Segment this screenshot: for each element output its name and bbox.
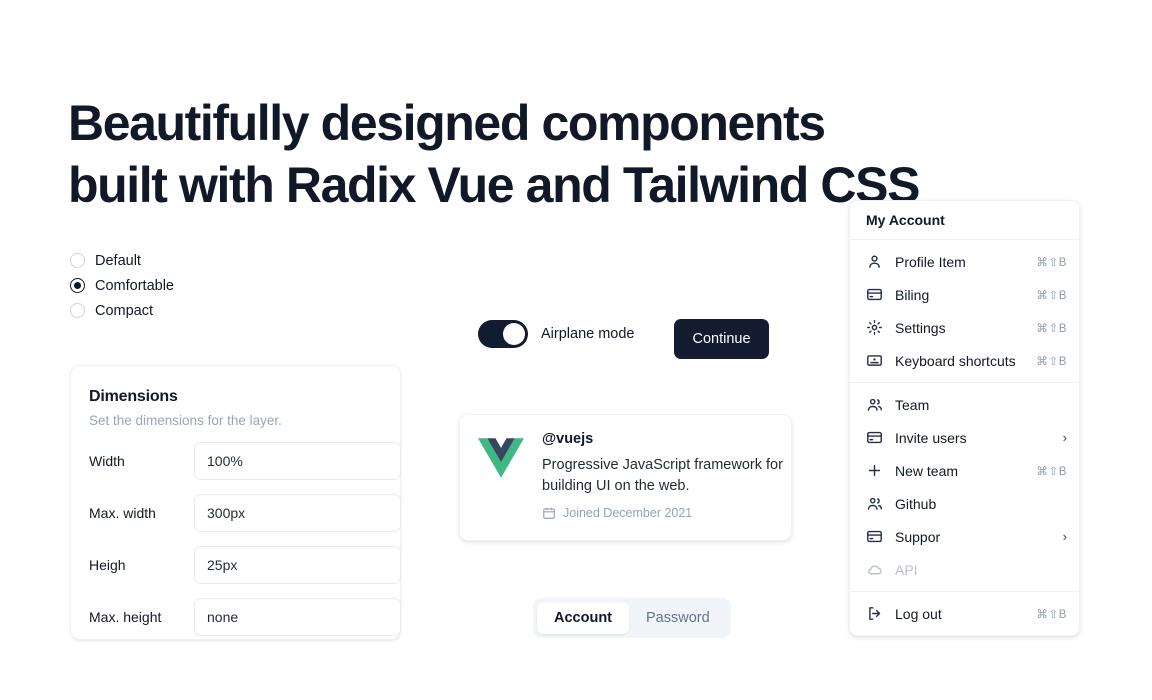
- menu-item-label: API: [895, 562, 1067, 578]
- vuejs-description: Progressive JavaScript framework for bui…: [542, 455, 784, 497]
- continue-button[interactable]: Continue: [674, 319, 769, 359]
- menu-item-shortcut: ⌘⇧B: [1036, 321, 1067, 335]
- menu-item-label: Settings: [895, 320, 1036, 336]
- radio-label: Comfortable: [95, 278, 174, 294]
- vuejs-handle: @vuejs: [542, 431, 784, 447]
- page-title-line-1: Beautifully designed components: [68, 92, 1028, 154]
- joined-date: Joined December 2021: [563, 506, 692, 520]
- dimension-row: Width: [89, 442, 380, 480]
- credit-card-icon: [866, 429, 883, 446]
- menu-item-shortcut: ⌘⇧B: [1036, 255, 1067, 269]
- radio-circle: [70, 303, 85, 318]
- menu-header: My Account: [850, 201, 1079, 239]
- menu-item-label: Team: [895, 397, 1067, 413]
- menu-item-settings[interactable]: Settings⌘⇧B: [850, 311, 1079, 344]
- logout-icon: [866, 605, 883, 622]
- dimension-input-max-width[interactable]: [194, 494, 401, 532]
- dimension-input-width[interactable]: [194, 442, 401, 480]
- dimension-input-max-height[interactable]: [194, 598, 401, 636]
- airplane-mode-label: Airplane mode: [541, 326, 635, 342]
- menu-item-new-team[interactable]: New team⌘⇧B: [850, 454, 1079, 487]
- menu-item-label: Log out: [895, 606, 1036, 622]
- dimension-row: Max. width: [89, 494, 380, 532]
- dimension-row: Heigh: [89, 546, 380, 584]
- radio-option-compact[interactable]: Compact: [70, 298, 330, 323]
- account-dropdown-menu: My Account Profile Item⌘⇧BBiling⌘⇧BSetti…: [849, 200, 1080, 636]
- dimension-label: Max. width: [89, 505, 194, 521]
- vue-logo-icon: [478, 435, 524, 481]
- menu-item-profile-item[interactable]: Profile Item⌘⇧B: [850, 245, 1079, 278]
- menu-item-label: Suppor: [895, 529, 1063, 545]
- credit-card-icon: [866, 528, 883, 545]
- chevron-right-icon: ›: [1063, 431, 1067, 444]
- menu-item-shortcut: ⌘⇧B: [1036, 464, 1067, 478]
- menu-item-team[interactable]: Team: [850, 388, 1079, 421]
- tab-account[interactable]: Account: [537, 602, 629, 634]
- user-icon: [866, 253, 883, 270]
- airplane-mode-row: Airplane mode: [478, 320, 635, 348]
- menu-item-suppor[interactable]: Suppor›: [850, 520, 1079, 553]
- menu-group: TeamInvite users›New team⌘⇧BGithubSuppor…: [850, 383, 1079, 591]
- menu-item-label: Biling: [895, 287, 1036, 303]
- radio-option-comfortable[interactable]: Comfortable: [70, 273, 330, 298]
- credit-card-icon: [866, 286, 883, 303]
- chevron-right-icon: ›: [1063, 530, 1067, 543]
- menu-group: Log out⌘⇧B: [850, 592, 1079, 635]
- hover-card-body: @vuejs Progressive JavaScript framework …: [542, 431, 784, 524]
- radio-circle: [70, 253, 85, 268]
- gear-icon: [866, 319, 883, 336]
- menu-item-label: Keyboard shortcuts: [895, 353, 1036, 369]
- dimension-row: Max. height: [89, 598, 380, 636]
- calendar-icon: [542, 506, 556, 520]
- airplane-mode-switch[interactable]: [478, 320, 528, 348]
- menu-item-shortcut: ⌘⇧B: [1036, 354, 1067, 368]
- menu-item-biling[interactable]: Biling⌘⇧B: [850, 278, 1079, 311]
- radio-option-default[interactable]: Default: [70, 248, 330, 273]
- radio-group: DefaultComfortableCompact: [70, 248, 330, 323]
- menu-item-shortcut: ⌘⇧B: [1036, 288, 1067, 302]
- cloud-icon: [866, 561, 883, 578]
- dimensions-field-list: WidthMax. widthHeighMax. height: [89, 442, 380, 636]
- menu-body: Profile Item⌘⇧BBiling⌘⇧BSettings⌘⇧BKeybo…: [850, 239, 1079, 635]
- dimensions-description: Set the dimensions for the layer.: [89, 413, 380, 428]
- radio-dot: [74, 282, 81, 289]
- radio-label: Compact: [95, 303, 153, 319]
- dimension-input-heigh[interactable]: [194, 546, 401, 584]
- menu-item-keyboard-shortcuts[interactable]: Keyboard shortcuts⌘⇧B: [850, 344, 1079, 377]
- menu-item-label: Profile Item: [895, 254, 1036, 270]
- users-icon: [866, 495, 883, 512]
- menu-item-label: Github: [895, 496, 1067, 512]
- menu-item-github[interactable]: Github: [850, 487, 1079, 520]
- settings-tabs: AccountPassword: [533, 598, 731, 638]
- menu-item-api: API: [850, 553, 1079, 586]
- menu-item-label: New team: [895, 463, 1036, 479]
- dimensions-title: Dimensions: [89, 388, 380, 406]
- dimension-label: Heigh: [89, 557, 194, 573]
- joined-row: Joined December 2021: [542, 506, 784, 520]
- dimension-label: Max. height: [89, 609, 194, 625]
- radio-circle: [70, 278, 85, 293]
- menu-item-invite-users[interactable]: Invite users›: [850, 421, 1079, 454]
- users-icon: [866, 396, 883, 413]
- menu-item-log-out[interactable]: Log out⌘⇧B: [850, 597, 1079, 630]
- keyboard-icon: [866, 352, 883, 369]
- plus-icon: [866, 462, 883, 479]
- menu-item-label: Invite users: [895, 430, 1063, 446]
- tab-password[interactable]: Password: [629, 602, 727, 634]
- page-title: Beautifully designed components built wi…: [68, 92, 1028, 216]
- dimensions-card: Dimensions Set the dimensions for the la…: [70, 365, 401, 640]
- radio-label: Default: [95, 253, 141, 269]
- switch-knob: [503, 323, 525, 345]
- vuejs-hover-card: @vuejs Progressive JavaScript framework …: [459, 414, 792, 541]
- dimension-label: Width: [89, 453, 194, 469]
- menu-group: Profile Item⌘⇧BBiling⌘⇧BSettings⌘⇧BKeybo…: [850, 240, 1079, 382]
- menu-item-shortcut: ⌘⇧B: [1036, 607, 1067, 621]
